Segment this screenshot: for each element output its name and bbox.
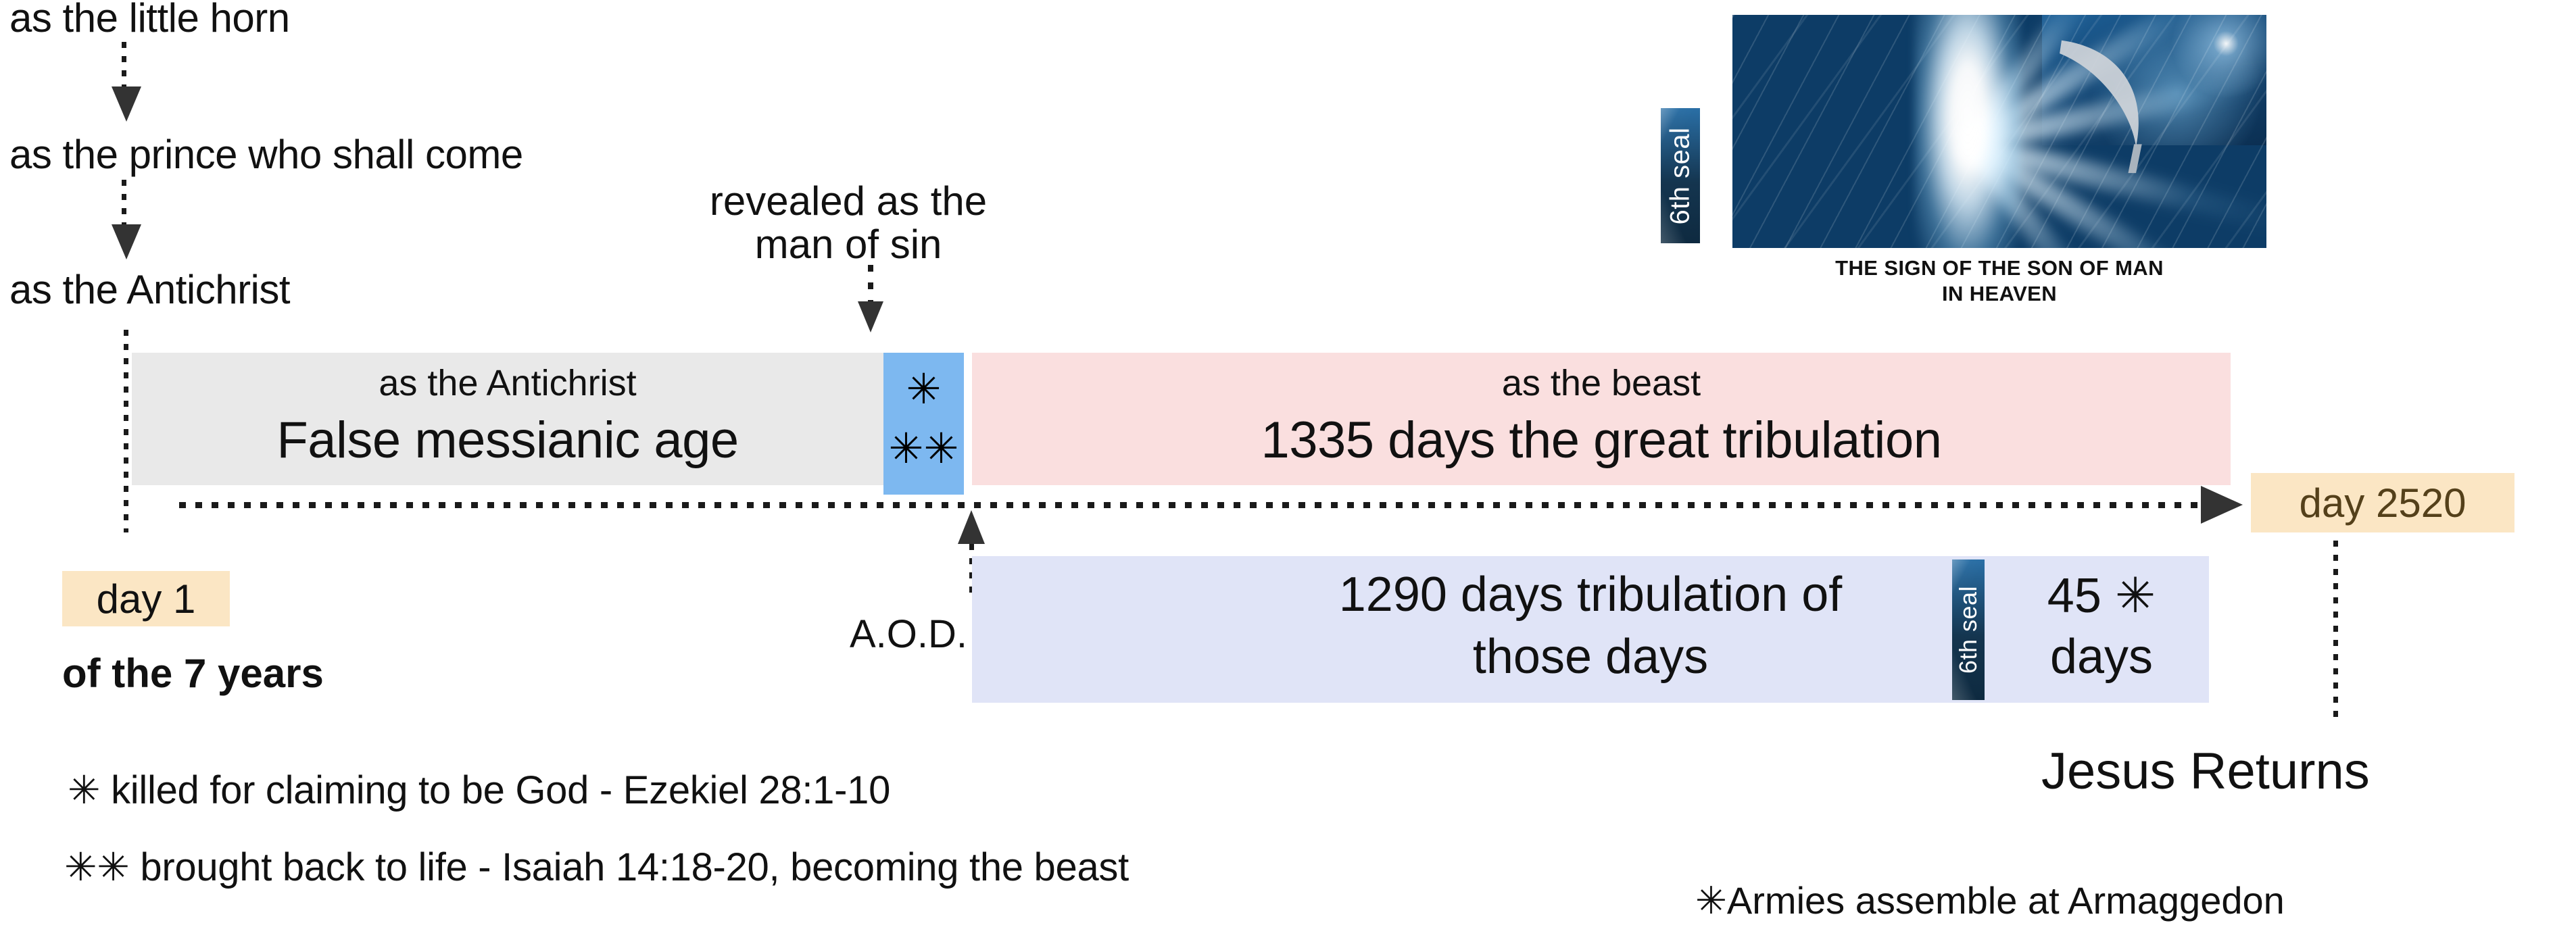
revealed-pointer-arrow: [858, 301, 883, 332]
heaven-sign-caption-line-1: THE SIGN OF THE SON OF MAN: [1732, 255, 2266, 281]
day-2520-marker: day 2520: [2251, 473, 2514, 532]
sixth-seal-chip-timeline: 6th seal: [1952, 559, 1985, 700]
connector-arrow-1: [112, 86, 141, 122]
sixth-seal-chip-image-label: 6th seal: [1666, 127, 1696, 224]
asterisk-single-marker: ✳: [883, 369, 964, 411]
sign-of-son-of-man-panel: 6th seal THE SIGN OF THE SON OF MAN IN H…: [1659, 7, 2268, 331]
connector-arrow-2: [112, 224, 141, 259]
day-1-sublabel: of the 7 years: [62, 650, 324, 697]
bar-gray-caption-main: False messianic age: [132, 411, 883, 470]
bar-false-messianic-age: as the Antichrist False messianic age: [132, 353, 883, 485]
jesus-returns-label: Jesus Returns: [2041, 742, 2370, 801]
sixth-seal-chip-timeline-label: 6th seal: [1954, 586, 1983, 674]
bar-killed-and-revived-segment: ✳ ✳✳: [883, 353, 964, 495]
armies-assemble-note: ✳Armies assemble at Armaggedon: [1695, 878, 2285, 923]
heaven-sign-caption: THE SIGN OF THE SON OF MAN IN HEAVEN: [1732, 255, 2266, 307]
footnote-double-asterisk: ✳✳ brought back to life - Isaiah 14:18-2…: [64, 844, 1129, 890]
day-2520-label: day 2520: [2300, 480, 2466, 526]
role-label-prince-who-shall-come: as the prince who shall come: [9, 134, 523, 175]
day-1-marker: day 1: [62, 571, 230, 626]
revealed-as-man-of-sin-annotation: revealed as the man of sin: [669, 180, 1027, 266]
bar-pink-caption-main: 1335 days the great tribulation: [972, 411, 2231, 470]
revealed-pointer-dots: [868, 265, 873, 304]
light-burst: [1914, 15, 2021, 248]
role-label-little-horn: as the little horn: [9, 0, 290, 39]
main-timeline-dotted-line: [179, 502, 2204, 508]
tail-45-days-line-1: 45 ✳: [1994, 567, 2209, 624]
bar-pink-caption-top: as the beast: [972, 362, 2231, 404]
revealed-line-2: man of sin: [669, 223, 1027, 266]
bar-45-days-tail: 45 ✳ days: [1994, 556, 2209, 703]
heaven-sign-caption-line-2: IN HEAVEN: [1732, 281, 2266, 307]
main-timeline-arrowhead: [2201, 486, 2243, 524]
scythe-icon: [2042, 34, 2160, 178]
day-1-label: day 1: [97, 576, 196, 622]
heaven-sign-image: [1732, 15, 2266, 248]
tail-45-days-line-2: days: [1994, 629, 2209, 684]
sixth-seal-chip-image: 6th seal: [1661, 108, 1700, 243]
aod-setup-arrowhead: [958, 510, 985, 544]
role-label-antichrist: as the Antichrist: [9, 269, 290, 310]
prophecy-timeline-diagram: as the little horn as the prince who sha…: [0, 0, 2576, 946]
bar-great-tribulation: as the beast 1335 days the great tribula…: [972, 353, 2231, 485]
day-2520-vertical-marker: [2333, 541, 2338, 722]
asterisk-double-marker: ✳✳: [883, 428, 964, 470]
revealed-line-1: revealed as the: [669, 180, 1027, 223]
day-1-vertical-marker: [124, 330, 128, 532]
footnote-single-asterisk: ✳ killed for claiming to be God - Ezekie…: [68, 767, 890, 813]
bar-gray-caption-top: as the Antichrist: [132, 362, 883, 404]
